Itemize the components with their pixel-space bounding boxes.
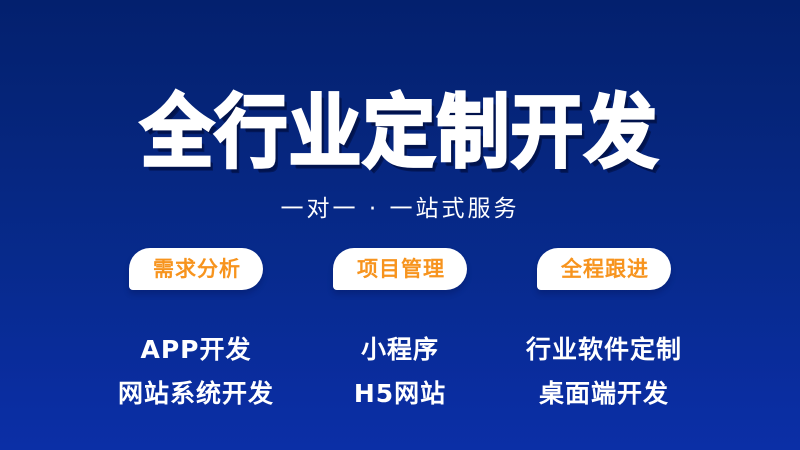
badge-project-management[interactable]: 项目管理 — [333, 248, 467, 290]
badge-label: 项目管理 — [357, 259, 445, 280]
badge-requirement-analysis[interactable]: 需求分析 — [129, 248, 263, 290]
headline-container: 全行业定制开发 — [0, 88, 800, 168]
page-subtitle: 一对一 · 一站式服务 — [281, 194, 520, 224]
service-column-3: 全程跟进 行业软件定制 桌面端开发 — [508, 248, 700, 416]
badge-label: 全程跟进 — [561, 259, 649, 280]
service-item[interactable]: 小程序 — [361, 328, 439, 372]
badge-label: 需求分析 — [153, 259, 241, 280]
badge-full-process-tracking[interactable]: 全程跟进 — [537, 248, 671, 290]
service-item[interactable]: 网站系统开发 — [118, 372, 274, 416]
service-column-1: 需求分析 APP开发 网站系统开发 — [100, 248, 292, 416]
subtitle-container: 一对一 · 一站式服务 — [0, 194, 800, 224]
service-item[interactable]: H5网站 — [354, 372, 446, 416]
service-item[interactable]: 行业软件定制 — [526, 328, 682, 372]
service-column-2: 项目管理 小程序 H5网站 — [304, 248, 496, 416]
page-title: 全行业定制开发 — [141, 88, 659, 176]
service-item[interactable]: APP开发 — [141, 328, 252, 372]
service-item[interactable]: 桌面端开发 — [539, 372, 669, 416]
service-columns: 需求分析 APP开发 网站系统开发 项目管理 小程序 H5网站 全程跟进 行业软… — [100, 248, 700, 416]
promo-banner: 全行业定制开发 一对一 · 一站式服务 需求分析 APP开发 网站系统开发 项目… — [0, 0, 800, 450]
